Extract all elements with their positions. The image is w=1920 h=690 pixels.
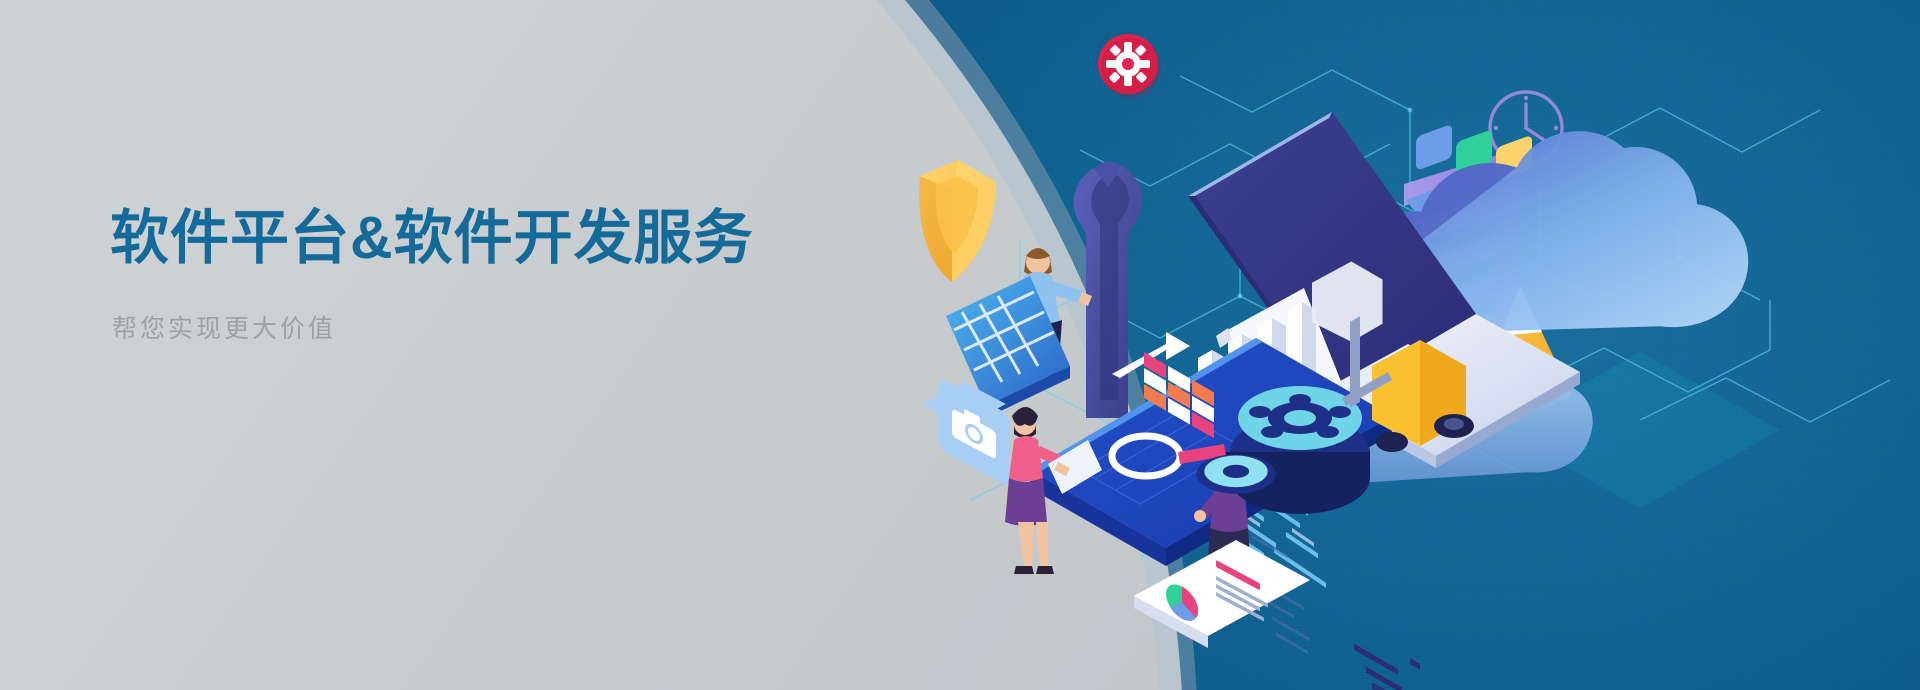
banner-copy: 软件平台&软件开发服务 帮您实现更大价值 bbox=[110, 205, 870, 345]
page-title: 软件平台&软件开发服务 bbox=[110, 205, 870, 273]
shield-icon bbox=[919, 160, 996, 282]
gear-badge-icon bbox=[1098, 34, 1161, 98]
hero-banner: 软件平台&软件开发服务 帮您实现更大价值 bbox=[0, 0, 1920, 690]
page-subtitle: 帮您实现更大价值 bbox=[112, 309, 870, 345]
hero-illustration: NEWS bbox=[880, 0, 1920, 690]
wrench-icon bbox=[1074, 162, 1143, 418]
